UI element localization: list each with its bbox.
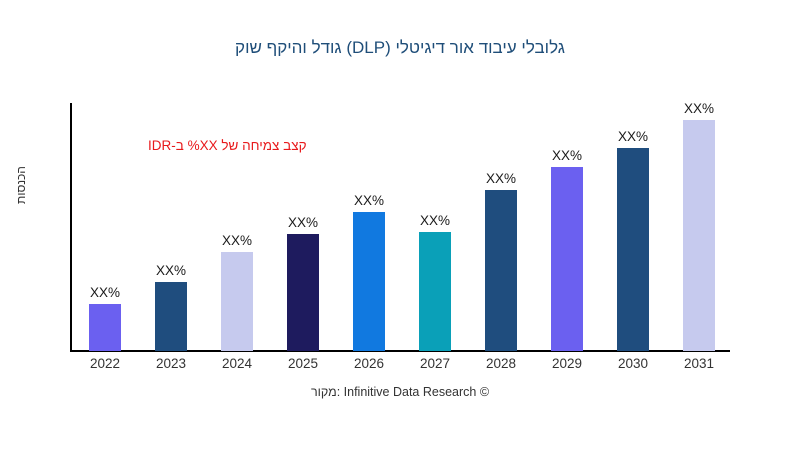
bar-group: XX% (72, 103, 138, 351)
bar-2027[interactable] (419, 232, 451, 351)
x-tick-label-2026: 2026 (336, 356, 402, 371)
x-tick-label-2029: 2029 (534, 356, 600, 371)
source-note: © Infinitive Data Research :מקור (0, 385, 800, 399)
bar-group: XX% (402, 103, 468, 351)
bar-group: XX% (666, 103, 732, 351)
bar-group: XX% (534, 103, 600, 351)
bar-value-label-2028: XX% (486, 171, 516, 186)
x-tick-label-2022: 2022 (72, 356, 138, 371)
bar-group: XX% (336, 103, 402, 351)
chart-title: גלובלי עיבוד אור דיגיטלי (DLP) גודל והיק… (0, 38, 800, 58)
x-tick-label-2025: 2025 (270, 356, 336, 371)
x-tick-label-2028: 2028 (468, 356, 534, 371)
bar-2028[interactable] (485, 190, 517, 351)
bar-value-label-2029: XX% (552, 148, 582, 163)
bar-2024[interactable] (221, 252, 253, 351)
bar-value-label-2031: XX% (684, 101, 714, 116)
chart-figure: גלובלי עיבוד אור דיגיטלי (DLP) גודל והיק… (0, 0, 800, 450)
y-axis-label: הכנסות (14, 5, 28, 125)
bar-2029[interactable] (551, 167, 583, 351)
bar-2023[interactable] (155, 282, 187, 351)
bar-2030[interactable] (617, 148, 649, 351)
x-tick-label-2031: 2031 (666, 356, 732, 371)
x-tick-label-2027: 2027 (402, 356, 468, 371)
bar-2026[interactable] (353, 212, 385, 351)
bar-value-label-2024: XX% (222, 233, 252, 248)
x-tick-label-2030: 2030 (600, 356, 666, 371)
x-tick-label-2024: 2024 (204, 356, 270, 371)
bar-value-label-2026: XX% (354, 193, 384, 208)
bar-2025[interactable] (287, 234, 319, 351)
bar-group: XX% (138, 103, 204, 351)
bar-group: XX% (600, 103, 666, 351)
bar-value-label-2022: XX% (90, 285, 120, 300)
x-tick-label-2023: 2023 (138, 356, 204, 371)
plot-area: XX%XX%XX%XX%XX%XX%XX%XX%XX%XX% (70, 103, 782, 351)
bar-2022[interactable] (89, 304, 121, 351)
bar-group: XX% (204, 103, 270, 351)
bar-group: XX% (270, 103, 336, 351)
bar-value-label-2027: XX% (420, 213, 450, 228)
bar-value-label-2030: XX% (618, 129, 648, 144)
y-axis-label-text: הכנסות (14, 125, 28, 245)
bar-2031[interactable] (683, 120, 715, 351)
bar-group: XX% (468, 103, 534, 351)
bar-value-label-2023: XX% (156, 263, 186, 278)
bar-value-label-2025: XX% (288, 215, 318, 230)
